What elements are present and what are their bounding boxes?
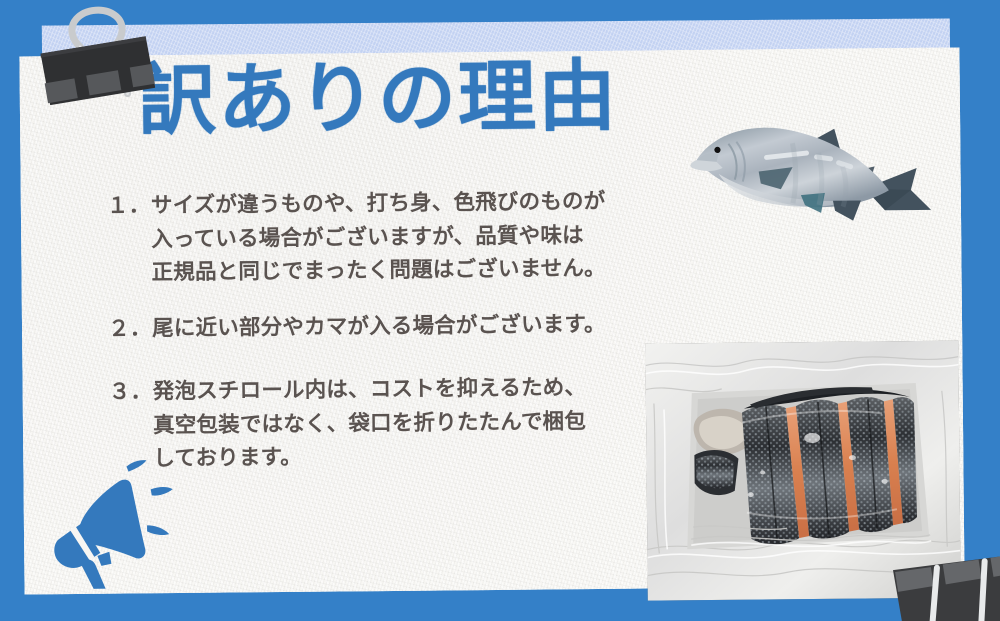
list-item: １． サイズが違うものや、打ち身、色飛びのものが 入っている場合がございますが、… (107, 184, 668, 290)
page-title: 訳ありの理由 (138, 57, 619, 140)
salmon-fish-illustration (688, 104, 939, 241)
list-item-number: ３． (109, 375, 153, 409)
binder-clip-icon (890, 554, 1000, 621)
list-item-text: サイズが違うものや、打ち身、色飛びのものが 入っている場合がございますが、品質や… (151, 184, 668, 290)
reasons-list: １． サイズが違うものや、打ち身、色飛びのものが 入っている場合がございますが、… (107, 184, 670, 498)
list-item-number: ２． (108, 312, 152, 346)
infographic-banner: 訳ありの理由 (0, 0, 1000, 621)
list-item-number: １． (107, 189, 151, 223)
list-item-text: 発泡スチロール内は、コストを抑えるため、 真空包装ではなく、袋口を折りたたんで梱… (153, 371, 670, 477)
list-item-text: 尾に近い部分やカマが入る場合がございます。 (152, 307, 668, 345)
megaphone-icon (48, 453, 199, 589)
list-item: ２． 尾に近い部分やカマが入る場合がございます。 (108, 307, 668, 346)
binder-clip-icon (29, 0, 156, 116)
